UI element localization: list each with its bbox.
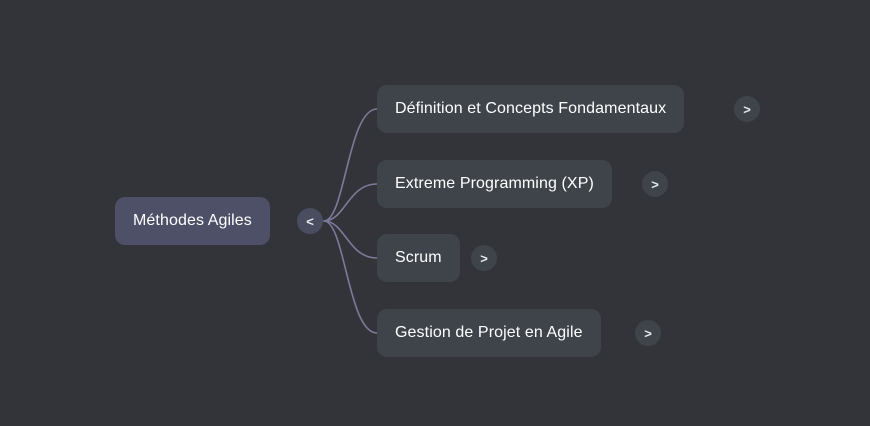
root-node-label: Méthodes Agiles bbox=[133, 213, 252, 229]
edge-to-child-2 bbox=[324, 184, 377, 221]
root-node[interactable]: Méthodes Agiles bbox=[115, 197, 270, 245]
expand-icon-scrum[interactable]: > bbox=[471, 245, 497, 271]
expand-icon-extreme-programming[interactable]: > bbox=[642, 171, 668, 197]
child-node-extreme-programming[interactable]: Extreme Programming (XP) bbox=[377, 160, 612, 208]
child-node-scrum[interactable]: Scrum bbox=[377, 234, 460, 282]
child-node-definition[interactable]: Définition et Concepts Fondamentaux bbox=[377, 85, 684, 133]
root-collapse-icon[interactable]: < bbox=[297, 208, 323, 234]
child-node-label: Scrum bbox=[395, 250, 442, 266]
edge-to-child-1 bbox=[324, 109, 377, 221]
child-node-gestion-projet[interactable]: Gestion de Projet en Agile bbox=[377, 309, 601, 357]
child-node-label: Gestion de Projet en Agile bbox=[395, 325, 583, 341]
edge-to-child-3 bbox=[324, 221, 377, 258]
child-node-label: Définition et Concepts Fondamentaux bbox=[395, 101, 666, 117]
expand-icon-definition[interactable]: > bbox=[734, 96, 760, 122]
child-node-label: Extreme Programming (XP) bbox=[395, 176, 594, 192]
mindmap-canvas[interactable]: Méthodes Agiles < Définition et Concepts… bbox=[0, 0, 870, 426]
expand-icon-gestion-projet[interactable]: > bbox=[635, 320, 661, 346]
edge-to-child-4 bbox=[324, 221, 377, 333]
